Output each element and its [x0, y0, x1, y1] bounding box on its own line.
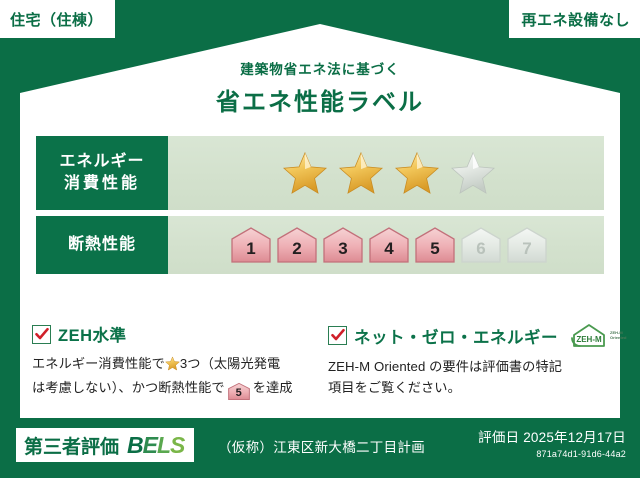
bels-wordmark: BELS — [127, 434, 184, 457]
inline-grade-value: 5 — [227, 382, 251, 404]
criteria-zeh: ZEH水準 エネルギー消費性能で3つ（太陽光発電 は考慮しない）、かつ断熱性能で… — [32, 322, 314, 401]
insulation-grade-badge: 4 — [367, 225, 411, 265]
insulation-grade-inline-badge: 5 — [227, 382, 251, 401]
evaluation-info: 評価日 2025年12月17日 871a74d1-91d6-44a2 — [478, 426, 626, 459]
zeh-text-part3: は考慮しない）、かつ断熱性能で — [32, 380, 225, 395]
insulation-head-line1: 断熱性能 — [68, 234, 136, 256]
bels-letter-l: L — [157, 432, 170, 458]
energy-performance-row: エネルギー 消費性能 — [36, 136, 604, 210]
energy-head-line1: エネルギー — [59, 151, 144, 173]
evaluation-date: 評価日 2025年12月17日 — [478, 426, 626, 446]
zeh-text-part1: エネルギー消費性能で — [32, 356, 165, 371]
zeh-m-sub-line2: Oriented — [610, 335, 626, 340]
star-inline-icon — [165, 356, 180, 377]
title-subtitle: 建築物省エネ法に基づく — [0, 58, 640, 78]
insulation-grade-value: 4 — [384, 239, 393, 265]
title-block: 建築物省エネ法に基づく 省エネ性能ラベル — [0, 58, 640, 117]
bels-letter-e: E — [143, 432, 157, 458]
insulation-grade-value: 6 — [476, 239, 485, 265]
nze-text-line2: 項目をご覧ください。 — [328, 380, 461, 395]
bels-letter-b: B — [127, 432, 143, 458]
energy-performance-label: 住宅（住棟） 再エネ設備なし 建築物省エネ法に基づく 省エネ性能ラベル エネルギ… — [0, 0, 640, 478]
nze-text-line1: ZEH-M Oriented の要件は評価書の特記 — [328, 359, 562, 374]
energy-performance-label-head: エネルギー 消費性能 — [36, 136, 168, 210]
rating-rows: エネルギー 消費性能 — [36, 136, 604, 280]
renewable-energy-tag: 再エネ設備なし — [509, 0, 640, 38]
criteria-nze-title: ネット・ゼロ・エネルギー — [354, 324, 558, 348]
insulation-performance-row: 断熱性能 1 — [36, 216, 604, 274]
insulation-performance-label-head: 断熱性能 — [36, 216, 168, 274]
insulation-grade-value: 5 — [430, 239, 439, 265]
insulation-grade-badge-inactive: 7 — [505, 225, 549, 265]
zeh-text-part4: を達成 — [253, 380, 293, 395]
insulation-grade-badge: 5 — [413, 225, 457, 265]
insulation-grade-value: 1 — [246, 239, 255, 265]
label-footer: 第三者評価 BELS （仮称）江東区新大橋二丁目計画 評価日 2025年12月1… — [0, 418, 640, 478]
insulation-grade-scale: 1 2 3 4 — [168, 216, 604, 274]
bels-badge: 第三者評価 BELS — [16, 428, 194, 462]
insulation-grade-badge: 1 — [229, 225, 273, 265]
criteria-zeh-text: エネルギー消費性能で3つ（太陽光発電 は考慮しない）、かつ断熱性能で5を達成 — [32, 353, 314, 401]
star-filled-icon — [394, 150, 440, 196]
criteria-section: ZEH水準 エネルギー消費性能で3つ（太陽光発電 は考慮しない）、かつ断熱性能で… — [32, 322, 610, 401]
bels-japanese-text: 第三者評価 — [24, 432, 119, 459]
project-name: （仮称）江東区新大橋二丁目計画 — [218, 436, 425, 456]
zeh-text-part2: 3つ（太陽光発電 — [180, 356, 280, 371]
energy-head-line2: 消費性能 — [64, 173, 140, 195]
insulation-grade-badge: 2 — [275, 225, 319, 265]
insulation-grade-badge: 3 — [321, 225, 365, 265]
bels-letter-s: S — [170, 432, 184, 458]
criteria-zeh-header: ZEH水準 — [32, 322, 314, 346]
criteria-nze-text: ZEH-M Oriented の要件は評価書の特記 項目をご覧ください。 — [328, 356, 610, 399]
check-icon — [32, 325, 51, 344]
criteria-net-zero-energy: ネット・ゼロ・エネルギー ZEH-M ZEH-M Oriented ZEH-M … — [328, 322, 610, 401]
evaluation-id: 871a74d1-91d6-44a2 — [478, 449, 626, 459]
insulation-grade-badge-inactive: 6 — [459, 225, 503, 265]
insulation-grade-value: 2 — [292, 239, 301, 265]
check-icon — [328, 326, 347, 345]
criteria-nze-header: ネット・ゼロ・エネルギー ZEH-M ZEH-M Oriented — [328, 322, 610, 349]
star-rating — [168, 136, 604, 210]
page-title: 省エネ性能ラベル — [0, 82, 640, 117]
star-filled-icon — [282, 150, 328, 196]
criteria-zeh-title: ZEH水準 — [58, 322, 127, 346]
star-empty-icon — [450, 150, 496, 196]
insulation-grade-value: 3 — [338, 239, 347, 265]
star-filled-icon — [338, 150, 384, 196]
insulation-grade-value: 7 — [522, 239, 531, 265]
zeh-m-logo-icon: ZEH-M ZEH-M Oriented — [570, 322, 626, 349]
zeh-m-logo-subtext: ZEH-M Oriented — [610, 331, 626, 340]
building-type-tag: 住宅（住棟） — [0, 0, 115, 38]
svg-text:ZEH-M: ZEH-M — [576, 335, 602, 344]
